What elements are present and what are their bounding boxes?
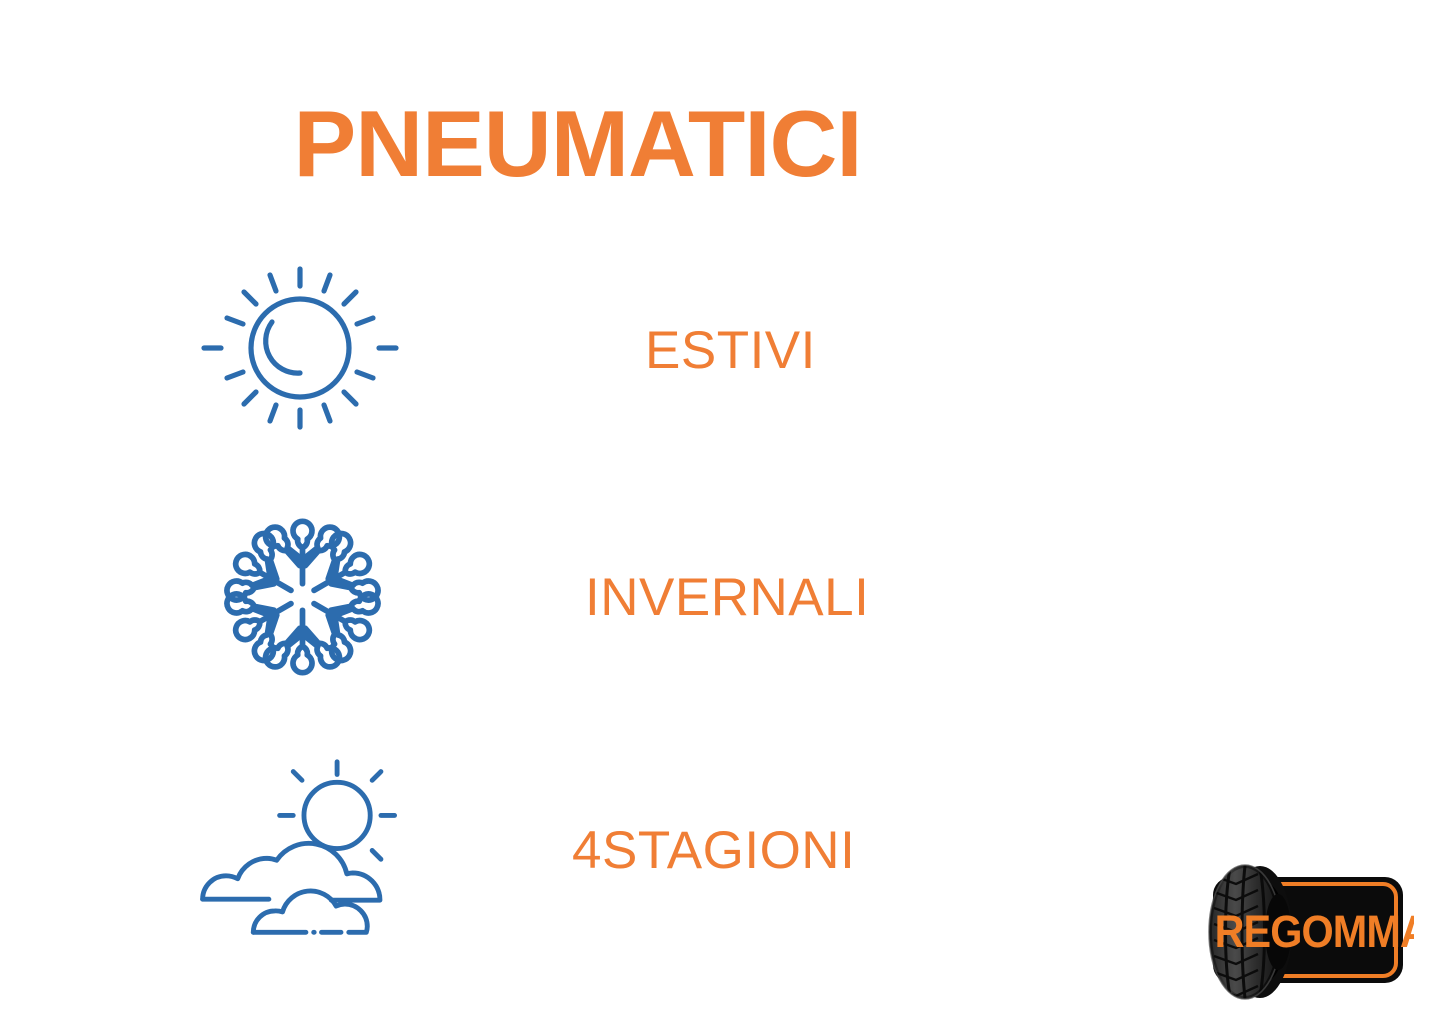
list-item-label: INVERNALI [585, 502, 869, 692]
sun-behind-clouds-icon [190, 755, 415, 945]
slide-canvas: PNEUMATICI [0, 0, 1445, 1022]
logo-text: REGOMMA [1215, 907, 1414, 957]
list-item-label: ESTIVI [645, 255, 816, 445]
list-item: INVERNALI [0, 502, 1445, 692]
regomma-logo[interactable]: REGOMMA [1192, 862, 1414, 1002]
snowflake-icon [190, 502, 415, 692]
page-title: PNEUMATICI [0, 97, 1445, 191]
sun-icon [190, 255, 415, 445]
list-item: ESTIVI [0, 255, 1445, 445]
list-item-label: 4STAGIONI [572, 755, 855, 945]
